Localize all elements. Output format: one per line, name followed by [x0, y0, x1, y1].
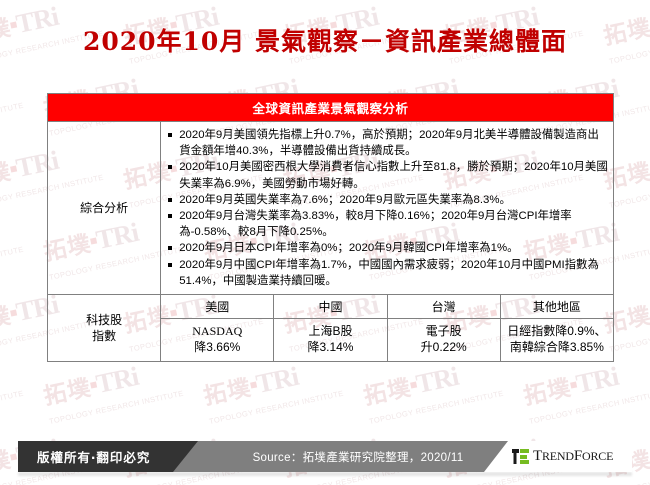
tech-index-head-row: 科技股 指數 美國 中國 台灣 其他地區: [48, 294, 614, 318]
watermark-dot: [10, 309, 17, 316]
watermark-tri: TRi: [253, 361, 300, 399]
cell-line2: 降3.66%: [163, 339, 271, 355]
analysis-table: 全球資訊產業景氣觀察分析 綜合分析 2020年9月美國領先指標上升0.7%，高於…: [47, 93, 614, 362]
column-header-other: 其他地區: [500, 294, 613, 318]
slide-canvas: 拓墣TRiTOPOLOGY RESEARCH INSTITUTE拓墣TRiTOP…: [0, 0, 650, 485]
tech-index-label-line2: 指數: [50, 328, 158, 344]
watermark-subtitle: TOPOLOGY RESEARCH INSTITUTE: [368, 389, 504, 426]
watermark-subtitle: TOPOLOGY RESEARCH INSTITUTE: [608, 317, 650, 354]
watermark-tile: 拓墣TRiTOPOLOGY RESEARCH INSTITUTE: [0, 349, 25, 428]
watermark-cjk: 拓墣: [0, 447, 14, 482]
brand-orce: ORCE: [582, 449, 613, 463]
cell-line1: NASDAQ: [163, 323, 271, 339]
watermark-subtitle: TOPOLOGY RESEARCH INSTITUTE: [208, 389, 344, 426]
column-header-taiwan: 台灣: [387, 294, 500, 318]
watermark-tri: TRi: [413, 361, 460, 399]
watermark-dot: [10, 165, 17, 172]
cell-line2: 南韓綜合降3.85%: [503, 339, 611, 355]
trendforce-wordmark: TRENDFORCE: [533, 448, 613, 465]
tech-index-label-line1: 科技股: [50, 312, 158, 328]
cell-line1: 上海B股: [276, 323, 384, 339]
list-item: 2020年9月日本CPI年增率為0%；2020年9月韓國CPI年增率為1%。: [165, 240, 609, 256]
watermark-cjk: 拓墣: [361, 375, 413, 410]
brand-f: F: [574, 448, 582, 464]
footer-bar: 版權所有‧翻印必究 Source：拓墣產業研究院整理，2020/11 TREND…: [18, 441, 632, 472]
list-item: 2020年9月美國領先指標上升0.7%，高於預期；2020年9月北美半導體設備製…: [165, 127, 609, 159]
table-header-row: 全球資訊產業景氣觀察分析: [48, 94, 614, 122]
main-table-container: 全球資訊產業景氣觀察分析 綜合分析 2020年9月美國領先指標上升0.7%，高於…: [47, 93, 614, 362]
analysis-bullets-cell: 2020年9月美國領先指標上升0.7%，高於預期；2020年9月北美半導體設備製…: [161, 122, 614, 295]
watermark-subtitle: TOPOLOGY RESEARCH INSTITUTE: [0, 245, 24, 282]
watermark-cjk: 拓墣: [201, 375, 253, 410]
watermark-tri: TRi: [573, 361, 620, 399]
cell-line1: 電子股: [390, 323, 498, 339]
watermark-cjk: 拓墣: [0, 159, 14, 194]
analysis-row: 綜合分析 2020年9月美國領先指標上升0.7%，高於預期；2020年9月北美半…: [48, 122, 614, 295]
watermark-cjk: 拓墣: [41, 375, 93, 410]
cell-line2: 升0.22%: [390, 339, 498, 355]
watermark-dot: [10, 453, 17, 460]
watermark-subtitle: TOPOLOGY RESEARCH INSTITUTE: [0, 389, 24, 426]
list-item: 2020年9月中國CPI年增率為1.7%，中國國內需求疲弱；2020年10月中國…: [165, 257, 609, 289]
table-cell-taiwan: 電子股 升0.22%: [387, 318, 500, 361]
watermark-dot: [250, 381, 257, 388]
watermark-subtitle: TOPOLOGY RESEARCH INSTITUTE: [608, 173, 650, 210]
watermark-tile: 拓墣TRiTOPOLOGY RESEARCH INSTITUTE: [0, 205, 25, 284]
watermark-subtitle: TOPOLOGY RESEARCH INSTITUTE: [528, 389, 650, 426]
column-header-us: 美國: [161, 294, 274, 318]
watermark-dot: [410, 381, 417, 388]
watermark-subtitle: TOPOLOGY RESEARCH INSTITUTE: [0, 101, 24, 138]
watermark-subtitle: TOPOLOGY RESEARCH INSTITUTE: [48, 389, 184, 426]
trendforce-logo: TRENDFORCE: [484, 441, 632, 472]
page-title: 2020年10月 景氣觀察－資訊產業總體面: [0, 22, 650, 58]
cell-line1: 日經指數降0.9%、: [503, 323, 611, 339]
table-cell-china: 上海B股 降3.14%: [274, 318, 387, 361]
watermark-dot: [570, 381, 577, 388]
column-header-china: 中國: [274, 294, 387, 318]
watermark-cjk: 拓墣: [0, 303, 14, 338]
list-item: 2020年9月台灣失業率為3.83%，較8月下降0.16%；2020年9月台灣C…: [165, 208, 609, 240]
watermark-tile: 拓墣TRiTOPOLOGY RESEARCH INSTITUTE: [0, 61, 25, 140]
trendforce-mark-icon: [512, 449, 529, 464]
table-cell-us: NASDAQ 降3.66%: [161, 318, 274, 361]
copyright-badge: 版權所有‧翻印必究: [18, 441, 198, 472]
analysis-bullet-list: 2020年9月美國領先指標上升0.7%，高於預期；2020年9月北美半導體設備製…: [165, 127, 609, 289]
analysis-row-label: 綜合分析: [48, 122, 161, 295]
table-cell-other: 日經指數降0.9%、 南韓綜合降3.85%: [500, 318, 613, 361]
source-note: Source：拓墣產業研究院整理，2020/11: [198, 441, 518, 472]
list-item: 2020年9月英國失業率為7.6%；2020年9月歐元區失業率為8.3%。: [165, 192, 609, 208]
watermark-cjk: 拓墣: [521, 375, 573, 410]
tech-index-row-label: 科技股 指數: [48, 294, 161, 361]
brand-t: T: [533, 448, 542, 464]
watermark-dot: [90, 381, 97, 388]
brand-rend: REND: [542, 449, 574, 463]
list-item: 2020年10月美國密西根大學消費者信心指數上升至81.8，勝於預期；2020年…: [165, 159, 609, 191]
table-header-title: 全球資訊產業景氣觀察分析: [48, 94, 614, 122]
watermark-tri: TRi: [93, 361, 140, 399]
cell-line2: 降3.14%: [276, 339, 384, 355]
footer-shadow: [18, 472, 632, 476]
